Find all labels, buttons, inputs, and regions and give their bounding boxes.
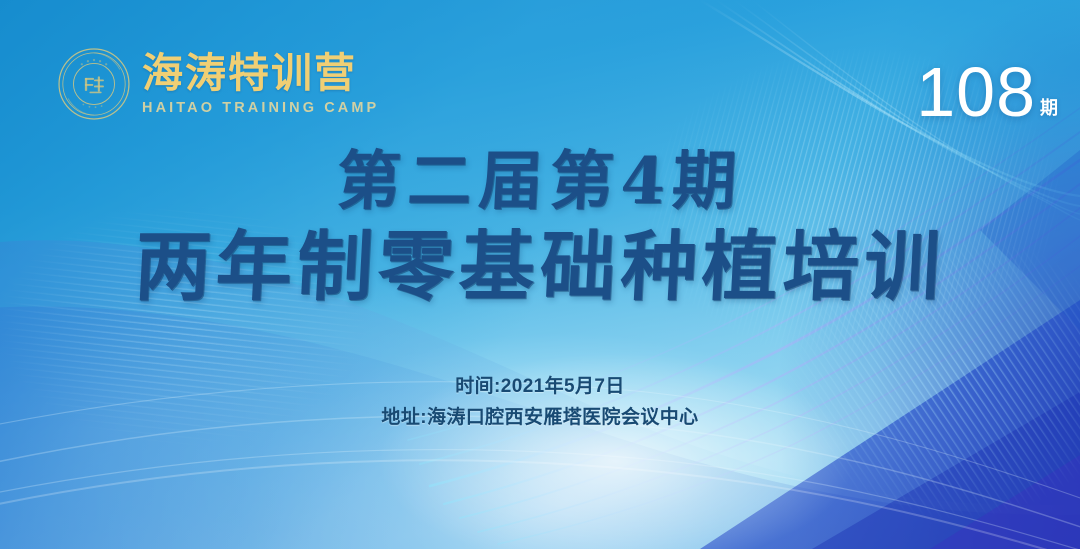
issue-badge: 108 期 — [916, 62, 1058, 124]
event-address: 地址:海涛口腔西安雁塔医院会议中心 — [0, 403, 1080, 434]
event-details: 时间:2021年5月7日 地址:海涛口腔西安雁塔医院会议中心 — [0, 372, 1080, 434]
issue-number: 108 — [916, 62, 1036, 124]
circular-seal-icon — [56, 46, 132, 122]
issue-unit-label: 期 — [1040, 99, 1058, 117]
event-time: 时间:2021年5月7日 — [0, 372, 1080, 403]
headline-line-1: 第二届第4期 — [0, 146, 1080, 218]
poster-headline: 第二届第4期 两年制零基础种植培训 — [0, 146, 1080, 311]
brand-name-cn: 海涛特训营 — [142, 52, 379, 95]
brand-name-block: 海涛特训营 HAITAO TRAINING CAMP — [142, 52, 379, 116]
headline-line-2: 两年制零基础种植培训 — [0, 222, 1080, 312]
brand-logo: 海涛特训营 HAITAO TRAINING CAMP — [56, 46, 379, 122]
brand-name-en: HAITAO TRAINING CAMP — [142, 100, 379, 116]
event-poster: 海涛特训营 HAITAO TRAINING CAMP 108 期 第二届第4期 … — [0, 0, 1080, 549]
